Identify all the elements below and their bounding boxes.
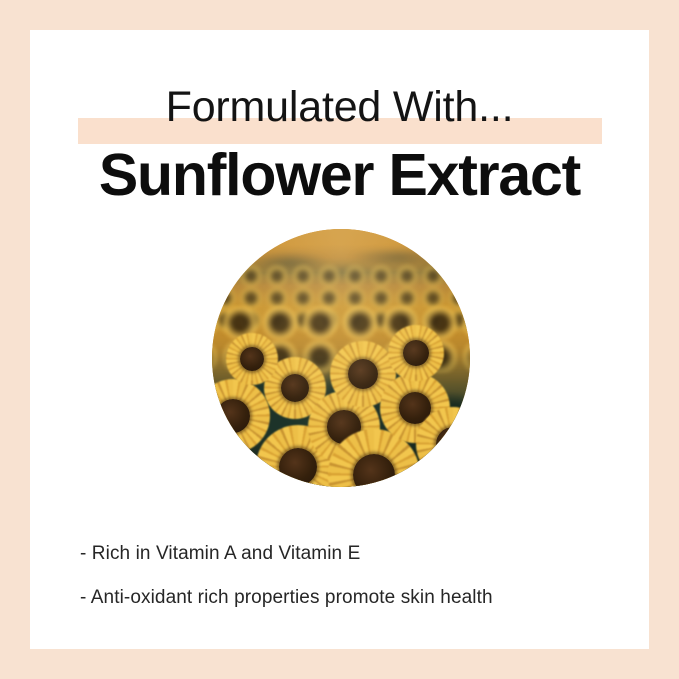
- page-title: Sunflower Extract: [30, 136, 649, 214]
- sunflower-bloom: [388, 325, 444, 381]
- sunflower-photo: [212, 229, 470, 487]
- benefits-list: - Rich in Vitamin A and Vitamin E - Anti…: [80, 542, 640, 630]
- card-canvas: Formulated With... Sunflower Extract: [30, 30, 649, 649]
- list-item: - Anti-oxidant rich properties promote s…: [80, 586, 640, 610]
- sunflower-bloom: [226, 333, 278, 385]
- sunflower-disc: [216, 399, 250, 433]
- product-ingredient-card: Formulated With... Sunflower Extract: [0, 0, 679, 679]
- eyebrow-heading: Formulated With...: [30, 76, 649, 138]
- sunflower-photo-inner: [212, 229, 470, 487]
- sunflower-disc: [403, 340, 429, 366]
- sunflower-disc: [240, 347, 264, 371]
- list-item: - Rich in Vitamin A and Vitamin E: [80, 542, 640, 566]
- sunflower-disc: [436, 427, 470, 461]
